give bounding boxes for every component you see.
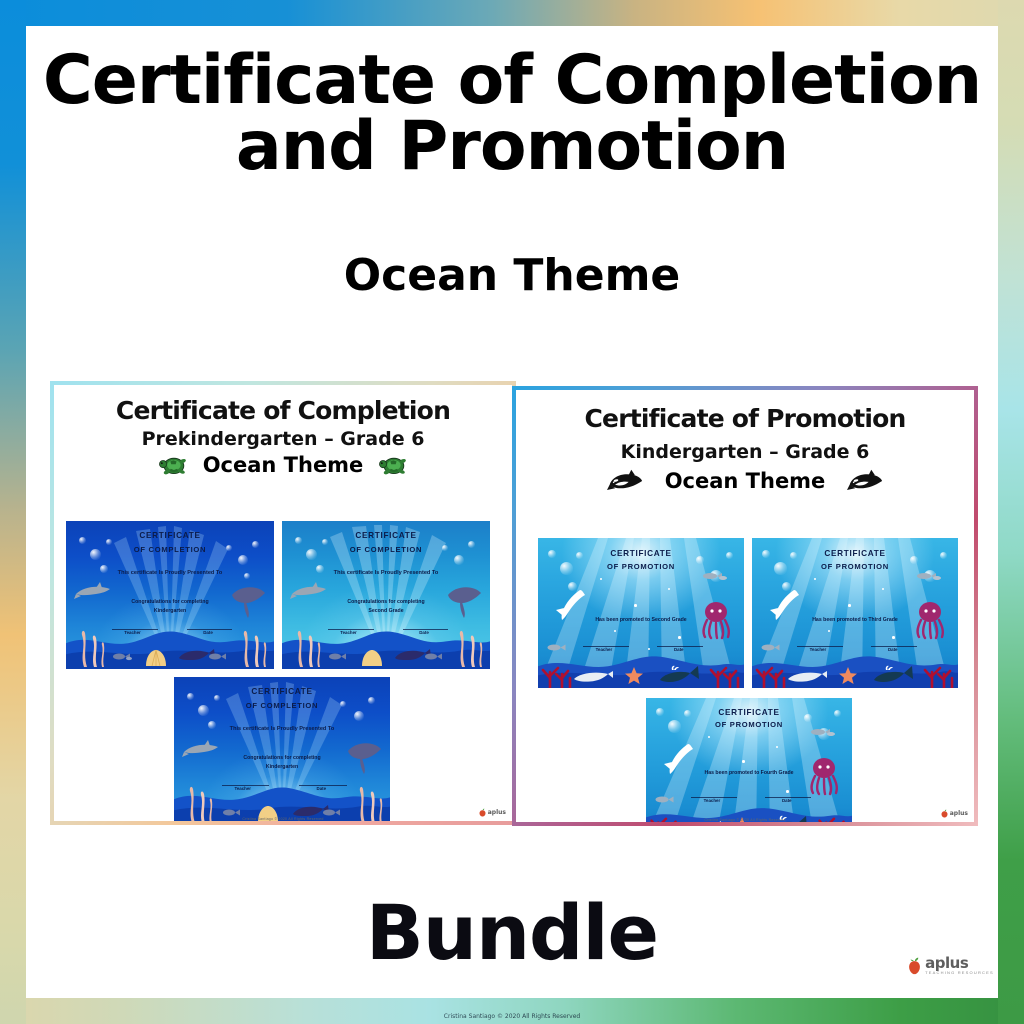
cert-heading-line2: OF PROMOTION bbox=[538, 562, 744, 571]
fish-icon bbox=[208, 652, 230, 661]
cert-heading-line1: CERTIFICATE bbox=[174, 687, 390, 696]
cert-heading-line1: CERTIFICATE bbox=[538, 549, 744, 558]
frame-border-top bbox=[0, 0, 1024, 26]
fish-icon bbox=[546, 642, 572, 653]
page-title: Certificate of Completion and Promotion bbox=[26, 48, 998, 180]
frame-border-bottom bbox=[0, 998, 1024, 1024]
ocean-scene bbox=[282, 521, 490, 669]
card-watermark-logo: aplus bbox=[940, 809, 968, 818]
apple-icon bbox=[906, 957, 923, 975]
sea-turtle-icon bbox=[155, 453, 191, 477]
fish-icon bbox=[424, 652, 446, 661]
whale-icon bbox=[656, 664, 702, 686]
cert-congrats-line2: Kindergarten bbox=[66, 607, 274, 615]
cert-congrats-line2: Second Grade bbox=[282, 607, 490, 615]
cert-presented-text: This certificate Is Proudly Presented To bbox=[174, 726, 390, 732]
promotion-card-title: Certificate of Promotion bbox=[516, 404, 974, 434]
frame-border-right bbox=[998, 0, 1024, 1024]
orca-whale-icon bbox=[847, 469, 883, 493]
cert-teacher-label: Teacher bbox=[340, 630, 357, 635]
cert-heading-line1: CERTIFICATE bbox=[66, 531, 274, 540]
seaweed-icon bbox=[234, 625, 270, 667]
product-card-completion-inner: Certificate of Completion Prekindergarte… bbox=[54, 385, 512, 821]
dolphin-icon bbox=[572, 669, 614, 685]
cert-congrats-line1: Has been promoted to Fourth Grade bbox=[646, 769, 852, 777]
cert-congrats-line1: Congratulations for completing bbox=[174, 754, 390, 762]
cert-congrats-line1: Has been promoted to Third Grade bbox=[752, 616, 958, 624]
page-subtitle: Ocean Theme bbox=[26, 252, 998, 300]
fish-icon bbox=[222, 808, 244, 817]
seaweed-icon bbox=[180, 781, 216, 821]
frame-border-left bbox=[0, 0, 26, 1024]
brand-text-block: aplus TEACHING RESOURCES bbox=[925, 957, 994, 975]
ocean-scene bbox=[538, 538, 744, 688]
ocean-scene bbox=[752, 538, 958, 688]
poster-inner: Certificate of Completion and Promotion … bbox=[26, 26, 998, 998]
cert-teacher-label: Teacher bbox=[124, 630, 141, 635]
card-footer-copyright: Cristina Santiago © 2020 All Rights Rese… bbox=[54, 817, 512, 821]
cert-congrats-line1: Congratulations for completing bbox=[66, 598, 274, 606]
completion-card-theme-row: Ocean Theme bbox=[54, 453, 512, 477]
mini-certificate[interactable]: CERTIFICATE OF PROMOTION Has been promot… bbox=[538, 538, 744, 688]
cert-heading-line1: CERTIFICATE bbox=[646, 708, 852, 717]
cert-heading-line2: OF COMPLETION bbox=[66, 545, 274, 554]
cert-date-label: Date bbox=[317, 786, 327, 791]
starfish-icon bbox=[838, 666, 858, 686]
cert-heading-line2: OF PROMOTION bbox=[646, 720, 852, 729]
mini-certificate[interactable]: CERTIFICATE OF COMPLETION This certifica… bbox=[282, 521, 490, 669]
coral-icon bbox=[540, 662, 574, 688]
cert-heading-line1: CERTIFICATE bbox=[752, 549, 958, 558]
card-watermark-text: aplus bbox=[950, 810, 968, 817]
coral-icon bbox=[708, 662, 742, 688]
card-footer-copyright: Cristina Santiago © 2020 All Rights Rese… bbox=[516, 818, 974, 822]
cert-congrats-line1: Has been promoted to Second Grade bbox=[538, 616, 744, 624]
page-title-line2: and Promotion bbox=[26, 114, 998, 180]
footer-copyright: Cristina Santiago © 2020 All Rights Rese… bbox=[0, 1013, 1024, 1020]
brand-name: aplus bbox=[925, 957, 994, 970]
completion-card-subtitle: Prekindergarten – Grade 6 bbox=[54, 426, 512, 452]
completion-card-title: Certificate of Completion bbox=[54, 396, 512, 426]
brand-logo: aplus TEACHING RESOURCES bbox=[902, 934, 998, 998]
cert-date-label: Date bbox=[203, 630, 213, 635]
cert-heading-line2: OF COMPLETION bbox=[282, 545, 490, 554]
cert-teacher-label: Teacher bbox=[810, 647, 827, 652]
cert-date-label: Date bbox=[674, 647, 684, 652]
mini-certificate[interactable]: CERTIFICATE OF COMPLETION This certifica… bbox=[174, 677, 390, 821]
card-watermark-logo: aplus bbox=[478, 808, 506, 817]
fish-icon bbox=[112, 652, 134, 661]
apple-icon bbox=[940, 809, 949, 818]
seashell-icon bbox=[144, 649, 168, 667]
cert-teacher-label: Teacher bbox=[596, 647, 613, 652]
card-watermark-text: aplus bbox=[488, 809, 506, 816]
completion-card-theme: Ocean Theme bbox=[203, 453, 364, 477]
cert-presented-text: This certificate Is Proudly Presented To bbox=[282, 570, 490, 576]
page-title-line1: Certificate of Completion bbox=[26, 48, 998, 114]
mini-certificate[interactable]: CERTIFICATE OF COMPLETION This certifica… bbox=[66, 521, 274, 669]
promotion-card-subtitle: Kindergarten – Grade 6 bbox=[516, 439, 974, 465]
seaweed-icon bbox=[288, 625, 324, 667]
seaweed-icon bbox=[450, 625, 486, 667]
promotion-card-theme-row: Ocean Theme bbox=[516, 469, 974, 493]
seaweed-icon bbox=[350, 781, 386, 821]
ocean-scene bbox=[174, 677, 390, 821]
cert-date-label: Date bbox=[782, 798, 792, 803]
cert-congrats-line2: Kindergarten bbox=[174, 763, 390, 771]
cert-heading-line1: CERTIFICATE bbox=[282, 531, 490, 540]
whale-icon bbox=[870, 664, 916, 686]
cert-date-label: Date bbox=[419, 630, 429, 635]
cert-heading-line2: OF COMPLETION bbox=[174, 701, 390, 710]
promotion-card-header: Certificate of Promotion Kindergarten – … bbox=[516, 390, 974, 493]
fish-icon bbox=[654, 794, 680, 805]
coral-icon bbox=[922, 662, 956, 688]
sea-turtle-icon bbox=[375, 453, 411, 477]
fish-icon bbox=[322, 808, 344, 817]
apple-icon bbox=[478, 808, 487, 817]
cert-date-label: Date bbox=[888, 647, 898, 652]
coral-icon bbox=[754, 662, 788, 688]
orca-whale-icon bbox=[607, 469, 643, 493]
fish-icon bbox=[916, 570, 944, 582]
promotion-card-theme: Ocean Theme bbox=[665, 469, 826, 493]
bundle-label: Bundle bbox=[26, 888, 998, 977]
cert-heading-line2: OF PROMOTION bbox=[752, 562, 958, 571]
fish-icon bbox=[760, 642, 786, 653]
brand-tagline: TEACHING RESOURCES bbox=[925, 970, 994, 975]
product-card-promotion[interactable]: Certificate of Promotion Kindergarten – … bbox=[512, 386, 978, 826]
mini-certificate[interactable]: CERTIFICATE OF PROMOTION Has been promot… bbox=[646, 698, 852, 822]
starfish-icon bbox=[624, 666, 644, 686]
cert-teacher-label: Teacher bbox=[704, 798, 721, 803]
dolphin-icon bbox=[786, 669, 828, 685]
seaweed-icon bbox=[72, 625, 108, 667]
mini-certificate[interactable]: CERTIFICATE OF PROMOTION Has been promot… bbox=[752, 538, 958, 688]
fish-icon bbox=[328, 652, 350, 661]
cert-teacher-label: Teacher bbox=[234, 786, 251, 791]
product-card-completion[interactable]: Certificate of Completion Prekindergarte… bbox=[50, 381, 516, 825]
seashell-icon bbox=[360, 649, 384, 667]
cert-presented-text: This certificate Is Proudly Presented To bbox=[66, 570, 274, 576]
completion-card-header: Certificate of Completion Prekindergarte… bbox=[54, 385, 512, 477]
cert-congrats-line1: Congratulations for completing bbox=[282, 598, 490, 606]
ocean-scene bbox=[66, 521, 274, 669]
fish-icon bbox=[702, 570, 730, 582]
product-card-promotion-inner: Certificate of Promotion Kindergarten – … bbox=[516, 390, 974, 822]
poster-canvas: Cristina Santiago © 2020 All Rights Rese… bbox=[0, 0, 1024, 1024]
